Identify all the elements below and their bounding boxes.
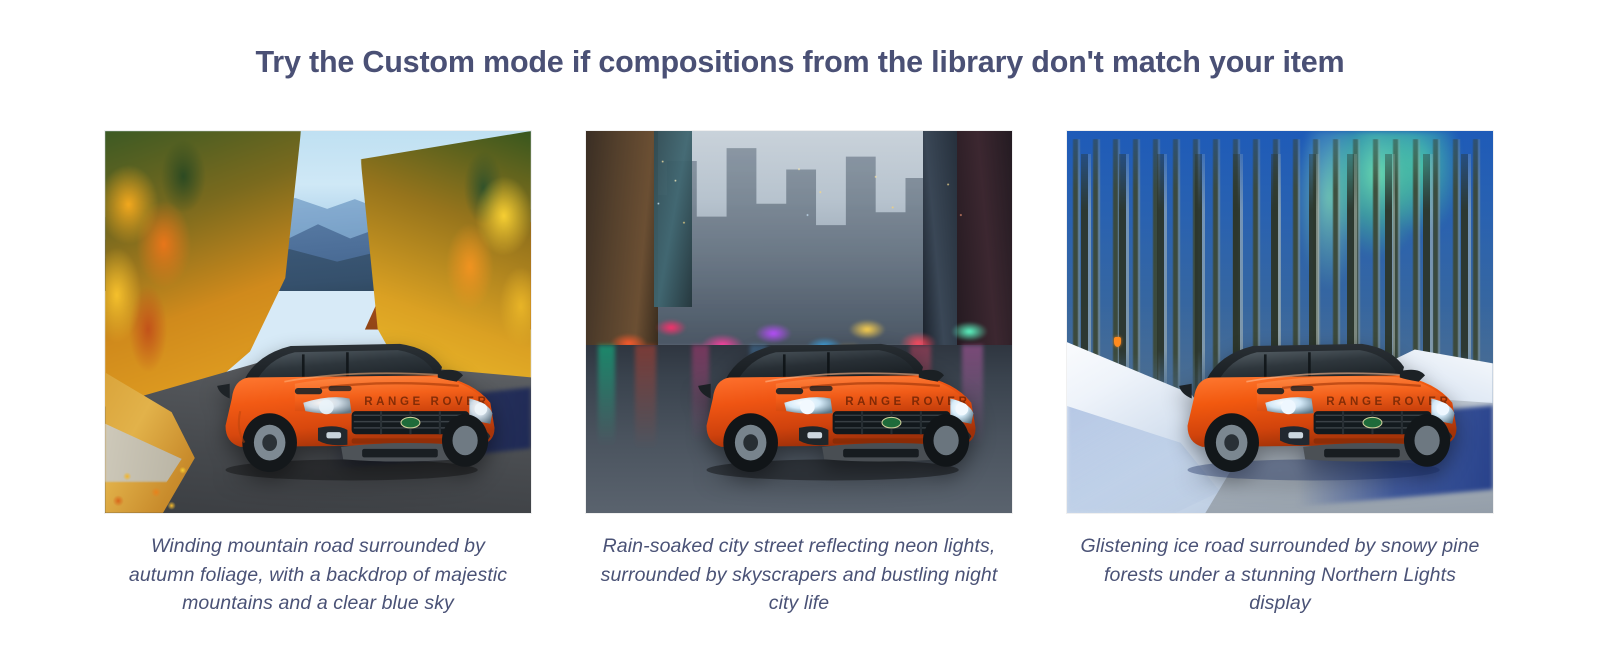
composition-card-glistening-ice-road[interactable]: RANGE ROVER (1067, 131, 1493, 618)
roadside-marker (1114, 337, 1121, 347)
composition-caption: Glistening ice road surrounded by snowy … (1080, 532, 1480, 618)
composition-card-rain-soaked-city-street[interactable]: RANGE ROVER (586, 131, 1012, 618)
composition-thumbnail-rain-soaked-city-street[interactable]: RANGE ROVER (586, 131, 1012, 513)
vehicle-range-rover-evoque: RANGE ROVER (1156, 288, 1471, 494)
page-title: Try the Custom mode if compositions from… (0, 40, 1600, 84)
composition-caption: Rain-soaked city street reflecting neon … (599, 532, 999, 618)
vehicle-range-rover-evoque: RANGE ROVER (675, 288, 990, 494)
composition-thumbnail-glistening-ice-road[interactable]: RANGE ROVER (1067, 131, 1493, 513)
vehicle-range-rover-evoque: RANGE ROVER (194, 288, 509, 494)
composition-thumbnail-autumn-mountain-road[interactable]: RANGE ROVER (105, 131, 531, 513)
composition-caption: Winding mountain road surrounded by autu… (118, 532, 518, 618)
composition-gallery: RANGE ROVER (105, 131, 1465, 618)
custom-mode-gallery-page: Try the Custom mode if compositions from… (0, 0, 1600, 667)
composition-card-autumn-mountain-road[interactable]: RANGE ROVER (105, 131, 531, 618)
